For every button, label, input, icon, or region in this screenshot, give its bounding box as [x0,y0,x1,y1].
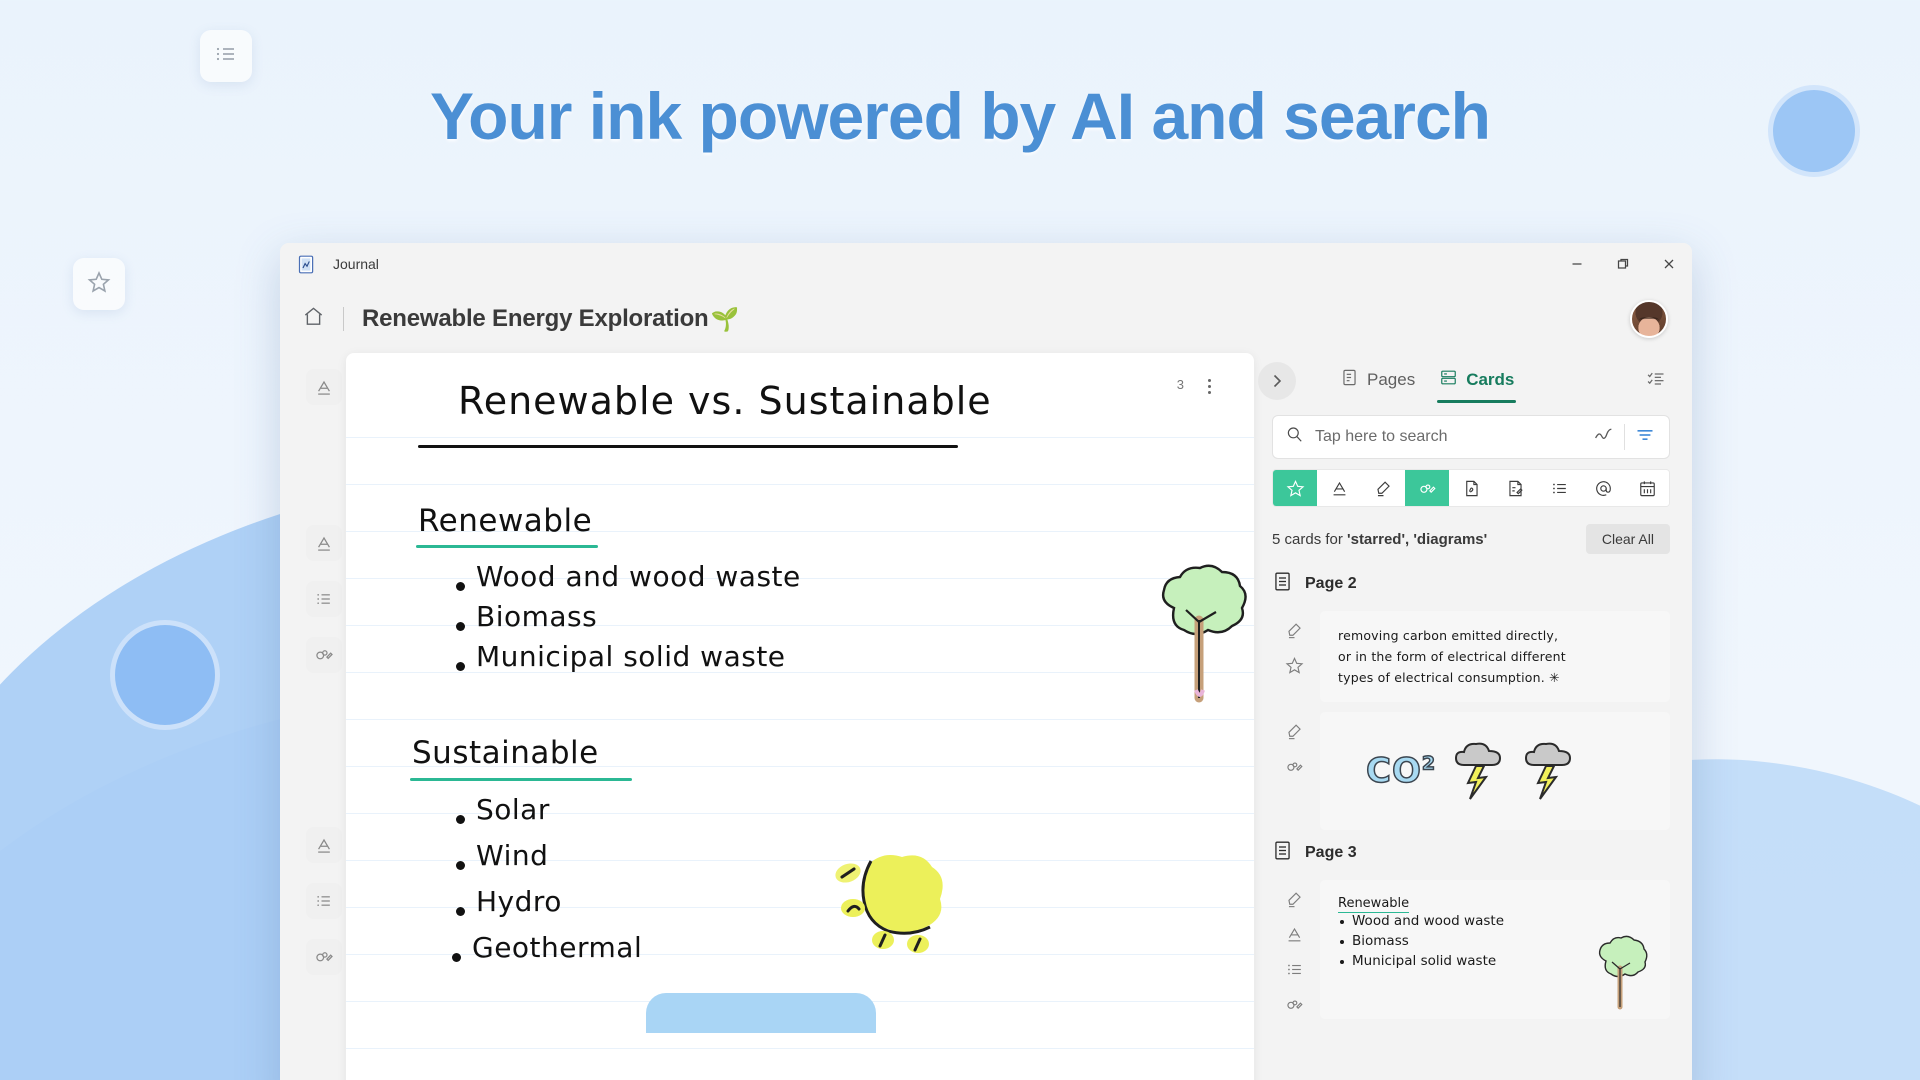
result-summary-row: 5 cards for 'starred', 'diagrams' Clear … [1272,523,1670,555]
page-icon [1272,840,1293,866]
ink-item-renewable-1: Biomass [476,600,597,633]
card-line-2: types of electrical consumption. ✳ [1336,668,1562,688]
ink-underline-sustainable [410,778,632,781]
star-icon [87,270,111,299]
clear-all-button[interactable]: Clear All [1586,524,1670,554]
more-options-icon[interactable] [1196,371,1222,401]
card-line-1: or in the form of electrical different [1336,647,1568,667]
note-canvas-area: 3 Renewable vs. Sustainable Renewable Wo… [302,353,1254,1080]
tab-cards[interactable]: Cards [1427,360,1526,403]
gutter-list-icon-2[interactable] [306,883,342,919]
gutter-diagram-icon-2[interactable] [306,939,342,975]
gutter-text-heading-icon-3[interactable] [306,827,342,863]
pages-icon [1340,368,1359,392]
ink-bullet [456,622,465,631]
text-heading-icon[interactable] [1285,925,1304,949]
search-bar[interactable] [1272,415,1670,459]
page-group-2: Page 2 removing carbon emitted directly,… [1272,567,1670,830]
avatar[interactable] [1630,300,1668,338]
ink-bullet [452,953,461,962]
filter-chip-highlight[interactable] [1361,470,1405,506]
page-group-label: Page 2 [1305,575,1357,593]
ink-item-renewable-2: Municipal solid waste [476,640,786,673]
page-title[interactable]: Renewable Energy Exploration [362,305,709,333]
ink-heading-sustainable: Sustainable [412,735,599,771]
tab-cards-label: Cards [1466,370,1514,390]
tab-pages-label: Pages [1367,370,1415,390]
card-tool-strip [1278,611,1310,702]
card-content[interactable]: removing carbon emitted directly, or in … [1320,611,1670,702]
card-tool-strip [1278,712,1310,830]
diagram-icon[interactable] [1285,995,1304,1019]
filter-icon[interactable] [1625,425,1665,450]
ink-item-sustainable-0: Solar [476,793,550,826]
filter-chip-diagrams[interactable] [1405,470,1449,506]
result-count-label: 5 cards for 'starred', 'diagrams' [1272,531,1487,548]
close-icon[interactable] [1646,243,1692,285]
ink-item-sustainable-3: Geothermal [472,931,642,964]
gutter-diagram-icon-1[interactable] [306,637,342,673]
filter-chip-list[interactable] [1537,470,1581,506]
star-icon[interactable] [1285,656,1304,680]
chevron-right-icon[interactable] [1258,362,1296,400]
checklist-icon[interactable] [1642,363,1670,400]
filter-chip-date[interactable] [1625,470,1669,506]
filter-chip-bar [1272,469,1670,507]
seedling-icon: 🌱 [711,306,740,333]
ink-title-underline [418,445,958,448]
page-number: 3 [1177,377,1184,392]
minimize-icon[interactable] [1554,243,1600,285]
filter-chip-starred[interactable] [1273,470,1317,506]
cards-icon [1439,368,1458,392]
list-icon[interactable] [1285,960,1304,984]
cards-list[interactable]: Page 2 removing carbon emitted directly,… [1272,567,1670,1080]
card-note-item-0: Wood and wood waste [1338,911,1656,931]
ink-search-icon[interactable] [1583,424,1624,450]
canvas-gutter [302,353,346,1080]
search-input[interactable] [1304,428,1583,446]
page-group-header[interactable]: Page 2 [1272,567,1670,601]
filter-chip-pdf[interactable] [1449,470,1493,506]
tab-pages[interactable]: Pages [1328,360,1427,403]
co2-superscript: 2 [1422,753,1436,775]
card-highlight[interactable]: removing carbon emitted directly, or in … [1272,611,1670,702]
card-content[interactable]: Renewable Wood and wood waste Biomass Mu… [1320,880,1670,1019]
card-renewable-note[interactable]: Renewable Wood and wood waste Biomass Mu… [1272,880,1670,1019]
header-divider [343,307,344,331]
card-line-0: removing carbon emitted directly, [1336,626,1560,646]
filter-chip-form[interactable] [1493,470,1537,506]
app-body: 3 Renewable vs. Sustainable Renewable Wo… [280,353,1692,1080]
maximize-icon[interactable] [1600,243,1646,285]
gutter-text-heading-icon-1[interactable] [306,369,342,405]
result-filter-names: 'starred', 'diagrams' [1347,531,1487,548]
card-note-title: Renewable [1338,896,1409,911]
water-drawing [646,993,876,1033]
page-icon [1272,571,1293,597]
tree-drawing [1590,933,1652,1011]
window-titlebar: Journal [280,243,1692,285]
journal-app-window: Journal Renewable Energy Exploration 🌱 [280,243,1692,1080]
hero-headline: Your ink powered by AI and search [0,78,1920,154]
document-header: Renewable Energy Exploration 🌱 [280,285,1692,353]
ink-bullet [456,861,465,870]
card-co2-diagram[interactable]: CO2 [1272,712,1670,830]
gutter-text-heading-icon-2[interactable] [306,525,342,561]
ink-bullet [456,815,465,824]
note-page[interactable]: 3 Renewable vs. Sustainable Renewable Wo… [346,353,1254,1080]
highlighter-icon[interactable] [1285,722,1304,746]
co2-label: CO2 [1366,751,1436,791]
ink-item-sustainable-1: Wind [476,839,548,872]
search-icon [1285,425,1304,449]
card-content[interactable]: CO2 [1320,712,1670,830]
highlighter-icon[interactable] [1285,621,1304,645]
floating-card-list [200,30,252,82]
page-group-label: Page 3 [1305,844,1357,862]
ink-heading-renewable: Renewable [418,503,592,539]
gutter-list-icon-1[interactable] [306,581,342,617]
ink-title: Renewable vs. Sustainable [458,379,992,423]
ink-bullet [456,662,465,671]
app-name-label: Journal [333,256,379,272]
ink-underline-renewable [416,545,598,548]
ink-bullet [456,907,465,916]
home-icon[interactable] [302,305,325,333]
cards-side-panel: Pages Cards [1272,353,1692,1080]
tree-drawing [1146,558,1254,708]
diagram-icon[interactable] [1285,757,1304,781]
storm-cloud-icon [1450,739,1506,803]
sun-drawing [826,843,956,958]
ink-bullet [456,582,465,591]
highlighter-icon[interactable] [1285,890,1304,914]
ink-item-renewable-0: Wood and wood waste [476,560,801,593]
storm-cloud-icon [1520,739,1576,803]
ink-item-sustainable-2: Hydro [476,885,562,918]
card-tool-strip [1278,880,1310,1019]
filter-chip-mention[interactable] [1581,470,1625,506]
page-group-3: Page 3 Renewable Wood and wood waste [1272,836,1670,1019]
highlighted-text: removing carbon emitted directly, or in … [1320,611,1670,702]
decorative-circle-left [110,620,220,730]
journal-app-icon [296,254,317,275]
page-group-header[interactable]: Page 3 [1272,836,1670,870]
panel-tab-bar: Pages Cards [1272,353,1670,409]
filter-chip-text[interactable] [1317,470,1361,506]
floating-card-star [73,258,125,310]
list-icon [214,42,238,71]
ruled-lines [346,353,1254,1080]
